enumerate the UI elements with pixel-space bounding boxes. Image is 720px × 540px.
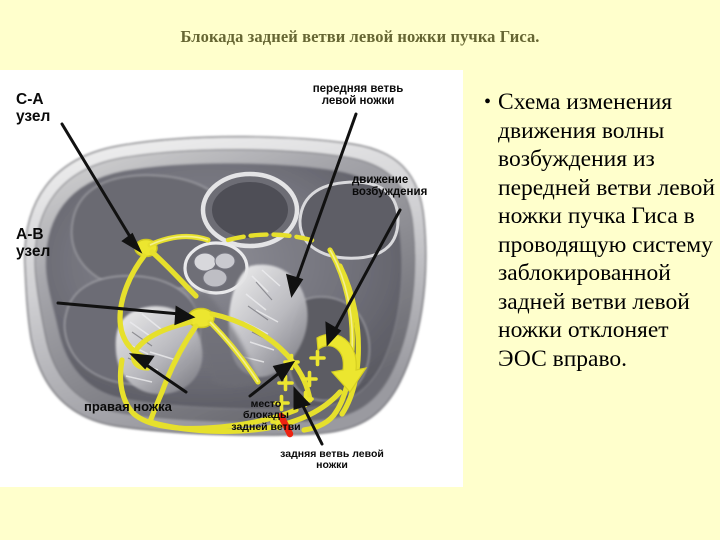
label-block-site: место блокады задней ветви <box>217 399 315 433</box>
bullet-marker: • <box>484 88 491 117</box>
label-av-node: А-В узел <box>16 227 50 260</box>
heart-conduction-diagram: С-А узел А-В узел передняя ветвь левой н… <box>0 70 463 487</box>
label-excitation-movement: движение возбуждения <box>352 174 463 199</box>
label-right-bundle: правая ножка <box>84 400 172 414</box>
page-title: Блокада задней ветви левой ножки пучка Г… <box>0 27 720 47</box>
bullet-text: Схема изменения движения волны возбужден… <box>498 88 720 373</box>
label-anterior-branch: передняя ветвь левой ножки <box>296 83 420 108</box>
label-posterior-branch: задняя ветвь левой ножки <box>252 449 412 472</box>
body-text-block: • Схема изменения движения волны возбужд… <box>484 88 720 373</box>
bullet-list-item: • Схема изменения движения волны возбужд… <box>484 88 720 373</box>
label-sa-node: С-А узел <box>16 92 50 125</box>
